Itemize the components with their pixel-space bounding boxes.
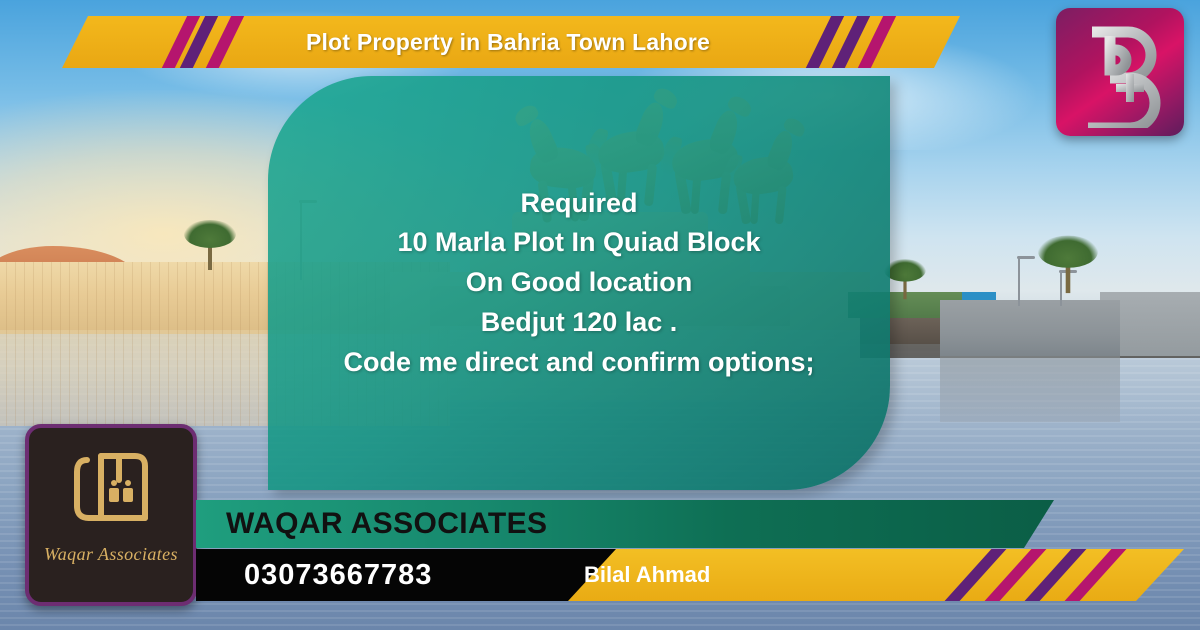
listing-line-4: Bedjut 120 lac . xyxy=(481,303,678,343)
waqar-associates-logo[interactable]: Waqar Associates xyxy=(25,424,197,606)
waqar-calligraphy-icon xyxy=(29,446,193,538)
agency-name: WAQAR ASSOCIATES xyxy=(196,500,1054,548)
listing-line-3: On Good location xyxy=(466,263,692,303)
listing-line-2: 10 Marla Plot In Quiad Block xyxy=(397,223,760,263)
listing-line-1: Required xyxy=(520,184,637,224)
header-title: Plot Property in Bahria Town Lahore xyxy=(62,16,960,68)
concrete-pier-reflection xyxy=(940,356,1120,422)
concrete-pier xyxy=(940,300,1120,356)
property-ad-poster: Required 10 Marla Plot In Quiad Block On… xyxy=(0,0,1200,630)
agency-logo-name: Waqar Associates xyxy=(29,544,193,565)
street-lamp-icon xyxy=(1018,256,1020,306)
phone-number[interactable]: 03073667783 xyxy=(196,549,616,601)
plb-brand-logo[interactable] xyxy=(1056,8,1184,136)
plb-plus-monogram-icon xyxy=(1066,16,1174,128)
listing-line-5: Code me direct and confirm options; xyxy=(343,343,814,383)
street-lamp-icon xyxy=(1060,270,1062,306)
listing-text: Required 10 Marla Plot In Quiad Block On… xyxy=(268,76,890,490)
